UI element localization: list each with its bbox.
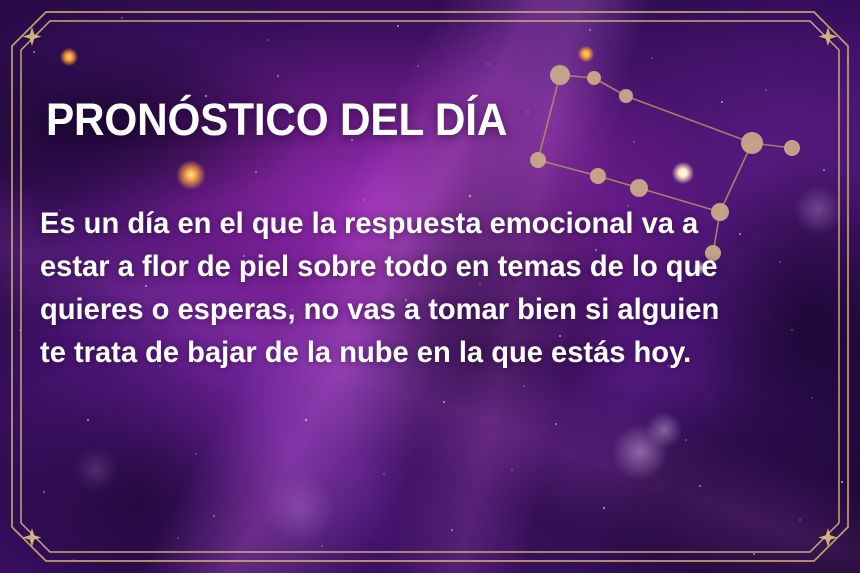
constellation-edge [538,75,560,160]
constellation-node [587,71,601,85]
page-title: PRONÓSTICO DEL DÍA [46,94,507,146]
horoscope-card: PRONÓSTICO DEL DÍA Es un día en el que l… [0,0,860,573]
constellation-node [550,65,570,85]
constellation-node [630,179,648,197]
forecast-line: te trata de bajar de la nube en la que e… [40,331,806,374]
forecast-line: Es un día en el que la respuesta emocion… [40,202,806,245]
constellation-node [784,140,800,156]
forecast-line: quieres o esperas, no vas a tomar bien s… [40,288,806,331]
constellation-edge [626,96,752,143]
forecast-line: estar a flor de piel sobre todo en temas… [40,245,806,288]
forecast-body-text: Es un día en el que la respuesta emocion… [40,202,806,374]
constellation-node [619,89,633,103]
constellation-node [741,132,763,154]
constellation-edge [538,160,598,176]
constellation-node [530,152,546,168]
constellation-node [590,168,606,184]
